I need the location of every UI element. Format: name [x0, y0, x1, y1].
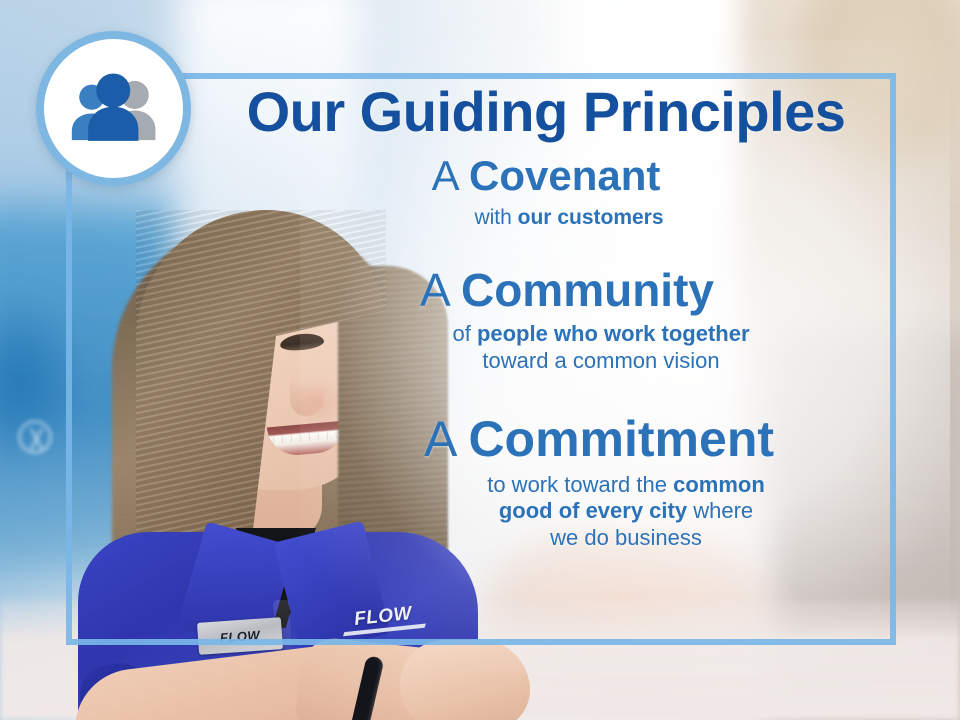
- principle-community: A Community of people who work together …: [196, 266, 896, 374]
- principle-heading: A Community: [196, 266, 896, 315]
- subtext-run-bold: good of every city: [499, 498, 687, 523]
- people-group-icon: [62, 72, 166, 146]
- principle-heading: A Covenant: [196, 154, 896, 199]
- page-title: Our Guiding Principles: [196, 84, 896, 140]
- principle-covenant: A Covenant with our customers: [196, 154, 896, 230]
- principle-commitment: A Commitment to work toward the common g…: [196, 413, 896, 552]
- principle-subtext: with our customers: [196, 205, 896, 231]
- principle-keyword: Community: [461, 264, 714, 316]
- principle-heading: A Commitment: [196, 413, 896, 466]
- principle-article: A: [424, 411, 455, 467]
- subtext-run: we do business: [550, 525, 702, 550]
- subtext-run: to work toward the: [487, 472, 673, 497]
- clasped-hands: [400, 640, 530, 720]
- principle-subtext: of people who work together toward a com…: [196, 321, 896, 375]
- principle-keyword: Covenant: [469, 152, 660, 199]
- principle-subtext: to work toward the common good of every …: [196, 472, 896, 552]
- subtext-run: toward a common vision: [482, 348, 719, 373]
- subtext-run-bold: our customers: [518, 206, 664, 229]
- principle-article: A: [420, 264, 448, 316]
- principle-article: A: [432, 152, 458, 199]
- employee-name-badge: FLOW: [197, 617, 283, 655]
- subtext-run-bold: common: [673, 472, 765, 497]
- subtext-run: of: [452, 321, 476, 346]
- subtext-run: where: [687, 498, 753, 523]
- subtext-run: with: [474, 206, 517, 229]
- principles-copy: Our Guiding Principles A Covenant with o…: [196, 84, 896, 552]
- subtext-run-bold: people who work together: [477, 321, 750, 346]
- principle-keyword: Commitment: [468, 411, 774, 467]
- guiding-principles-graphic: FLOW FLOW Our Guiding Principles: [0, 0, 960, 720]
- people-badge: [36, 31, 191, 186]
